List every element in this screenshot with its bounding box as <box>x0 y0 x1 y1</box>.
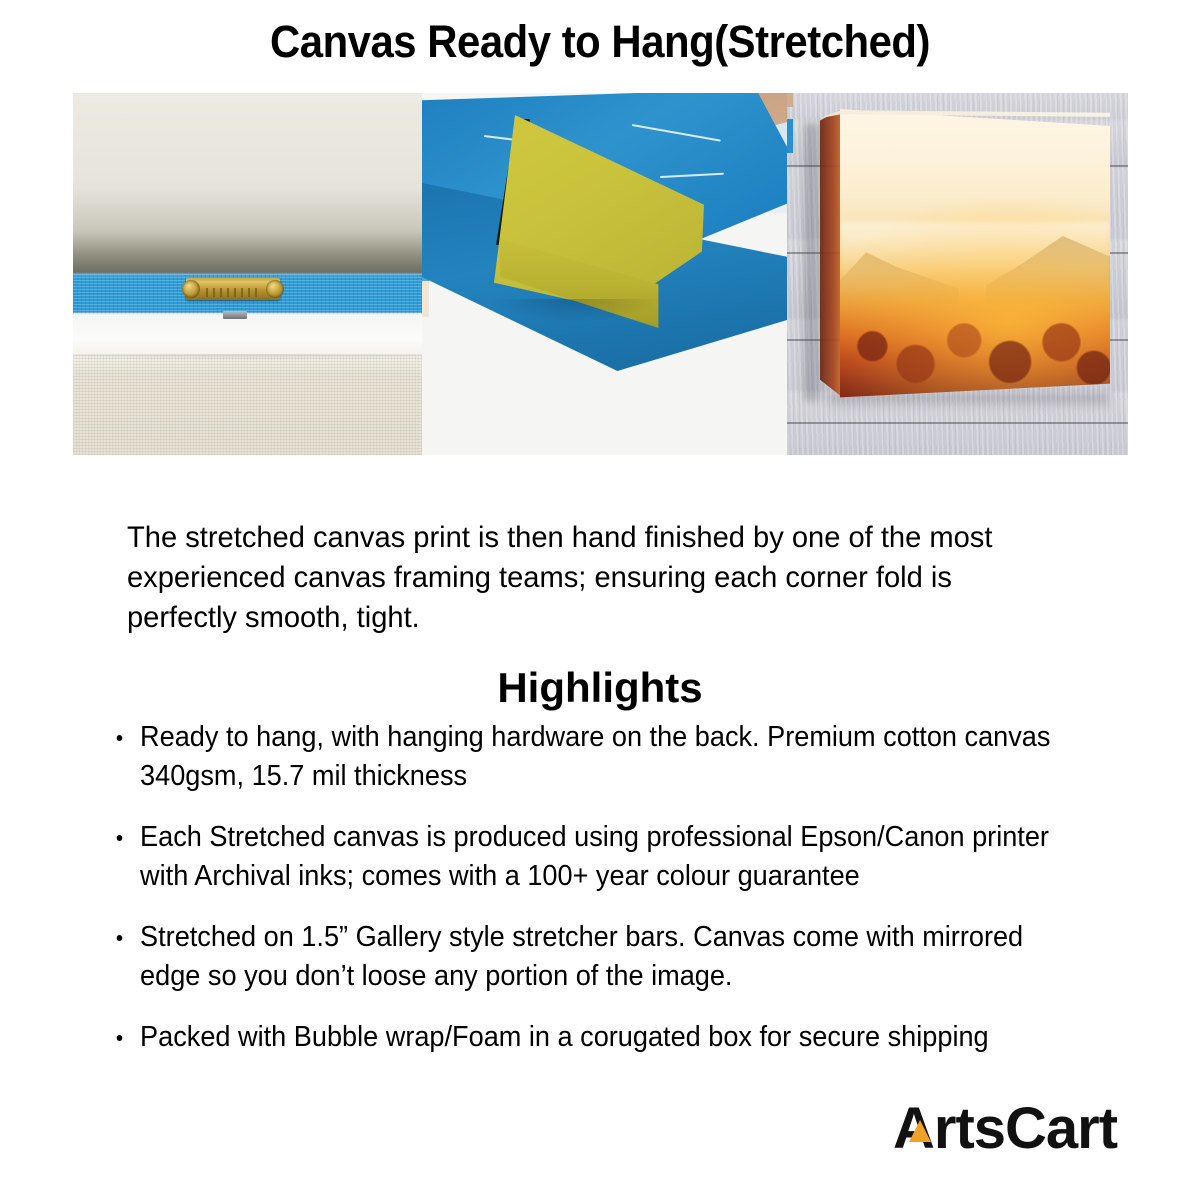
highlight-item: Each Stretched canvas is produced using … <box>112 818 1056 896</box>
highlight-item: Packed with Bubble wrap/Foam in a coruga… <box>112 1018 1056 1057</box>
intro-paragraph: The stretched canvas print is then hand … <box>127 518 1039 638</box>
edge-sliver-tan <box>787 93 793 107</box>
highlights-list: Ready to hang, with hanging hardware on … <box>112 718 1122 1079</box>
cotton-canvas-texture <box>73 354 422 455</box>
highlight-item-text: Each Stretched canvas is produced using … <box>140 821 1049 892</box>
photo-hung-canvas-wall <box>787 93 1128 455</box>
corner-drop-shadow <box>482 299 672 329</box>
plank-seam <box>787 422 1128 424</box>
highlight-item-text: Packed with Bubble wrap/Foam in a coruga… <box>140 1021 989 1053</box>
brand-logo: ArtsCart <box>893 1098 1159 1160</box>
highlight-item: Ready to hang, with hanging hardware on … <box>112 718 1056 796</box>
canvas-edge-shadow <box>73 354 422 364</box>
bullet-icon <box>117 1035 123 1041</box>
sunset-landscape-artwork <box>840 100 1110 405</box>
bullet-icon <box>117 935 123 941</box>
canvas-depth-edge <box>820 109 842 397</box>
product-photo-strip <box>73 93 1128 455</box>
photo-canvas-back-hanger <box>73 93 422 455</box>
highlight-item-text: Stretched on 1.5” Gallery style stretche… <box>140 921 1023 992</box>
bullet-icon <box>117 835 123 841</box>
bullet-icon <box>117 735 123 741</box>
sawtooth-hanger-icon <box>186 278 280 300</box>
cloud-wisp <box>660 173 724 178</box>
cloud-wisp <box>632 124 721 142</box>
orange-triangle-icon <box>909 1120 931 1142</box>
page-title: Canvas Ready to Hang(Stretched) <box>42 16 1158 68</box>
highlight-item-text: Ready to hang, with hanging hardware on … <box>140 721 1050 792</box>
sawtooth-teeth <box>206 288 260 297</box>
edge-sliver-cream <box>422 281 429 317</box>
edge-sliver-blue <box>787 119 793 153</box>
photo-corner-fold <box>422 93 787 455</box>
hanger-hook <box>223 311 247 319</box>
highlights-heading: Highlights <box>0 663 1200 713</box>
highlight-item: Stretched on 1.5” Gallery style stretche… <box>112 918 1056 996</box>
